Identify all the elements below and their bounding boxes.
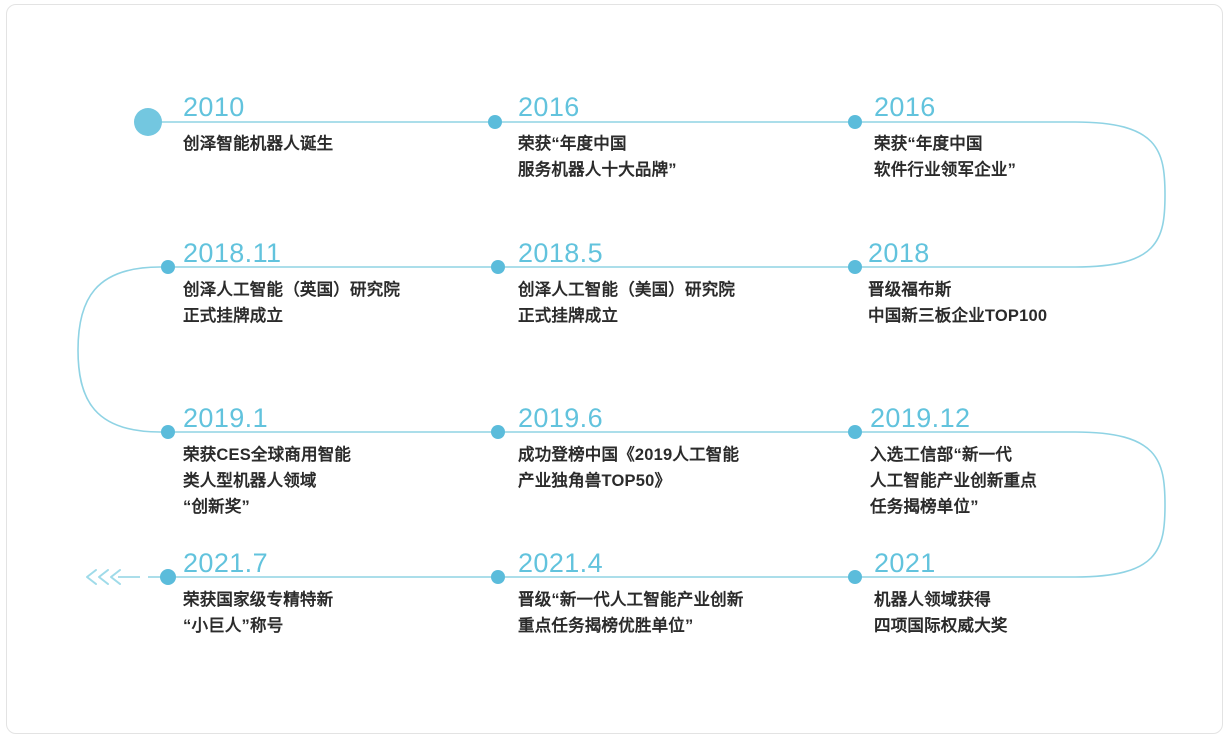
milestone-description: 机器人领域获得 四项国际权威大奖	[874, 587, 1204, 639]
milestone-description: 荣获“年度中国 软件行业领军企业”	[874, 131, 1204, 183]
milestone-year: 2016	[518, 92, 838, 122]
timeline-infographic: 2010 创泽智能机器人诞生 2016 荣获“年度中国 服务机器人十大品牌” 2…	[0, 0, 1229, 738]
milestone-year: 2019.6	[518, 403, 848, 433]
milestone-2018-5-us-institute[interactable]: 2018.5 创泽人工智能（美国）研究院 正式挂牌成立	[518, 238, 838, 329]
milestone-year: 2018	[868, 238, 1208, 268]
milestone-year: 2010	[183, 92, 483, 122]
milestone-description: 荣获CES全球商用智能 类人型机器人领域 “创新奖”	[183, 442, 493, 520]
milestone-2018-11-uk-institute[interactable]: 2018.11 创泽人工智能（英国）研究院 正式挂牌成立	[183, 238, 493, 329]
milestone-2019-6-unicorn-top50[interactable]: 2019.6 成功登榜中国《2019人工智能 产业独角兽TOP50》	[518, 403, 848, 494]
milestone-2021-international-awards[interactable]: 2021 机器人领域获得 四项国际权威大奖	[874, 548, 1204, 639]
milestone-description: 创泽人工智能（英国）研究院 正式挂牌成立	[183, 277, 493, 329]
milestone-year: 2021.4	[518, 548, 858, 578]
milestone-year: 2018.5	[518, 238, 838, 268]
milestone-description: 晋级“新一代人工智能产业创新 重点任务揭榜优胜单位”	[518, 587, 858, 639]
milestone-2010[interactable]: 2010 创泽智能机器人诞生	[183, 92, 483, 157]
milestone-year: 2021	[874, 548, 1204, 578]
milestone-2016-software-leader[interactable]: 2016 荣获“年度中国 软件行业领军企业”	[874, 92, 1204, 183]
milestone-description: 创泽智能机器人诞生	[183, 131, 483, 157]
milestone-2019-12-miit-selected[interactable]: 2019.12 入选工信部“新一代 人工智能产业创新重点 任务揭榜单位”	[870, 403, 1200, 520]
milestone-2021-4-winner-unit[interactable]: 2021.4 晋级“新一代人工智能产业创新 重点任务揭榜优胜单位”	[518, 548, 858, 639]
milestone-year: 2018.11	[183, 238, 493, 268]
milestone-description: 创泽人工智能（美国）研究院 正式挂牌成立	[518, 277, 838, 329]
milestone-2018-forbes-top100[interactable]: 2018 晋级福布斯 中国新三板企业TOP100	[868, 238, 1208, 329]
milestone-description: 成功登榜中国《2019人工智能 产业独角兽TOP50》	[518, 442, 848, 494]
milestone-description: 晋级福布斯 中国新三板企业TOP100	[868, 277, 1208, 329]
milestone-year: 2016	[874, 92, 1204, 122]
milestone-description: 入选工信部“新一代 人工智能产业创新重点 任务揭榜单位”	[870, 442, 1200, 520]
milestone-year: 2021.7	[183, 548, 493, 578]
milestone-year: 2019.12	[870, 403, 1200, 433]
milestone-description: 荣获国家级专精特新 “小巨人”称号	[183, 587, 493, 639]
milestone-year: 2019.1	[183, 403, 493, 433]
milestone-2021-7-little-giant[interactable]: 2021.7 荣获国家级专精特新 “小巨人”称号	[183, 548, 493, 639]
milestone-2016-service-robot[interactable]: 2016 荣获“年度中国 服务机器人十大品牌”	[518, 92, 838, 183]
milestone-description: 荣获“年度中国 服务机器人十大品牌”	[518, 131, 838, 183]
milestone-2019-1-ces-award[interactable]: 2019.1 荣获CES全球商用智能 类人型机器人领域 “创新奖”	[183, 403, 493, 520]
